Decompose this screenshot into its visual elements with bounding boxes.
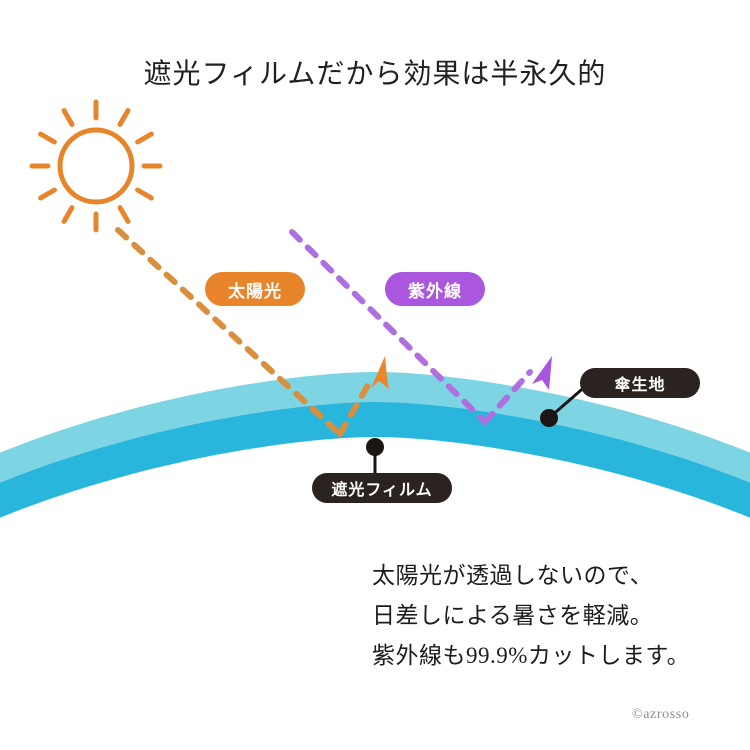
umbrella-fabric-anchor-dot [540,409,558,427]
page-title: 遮光フィルムだから効果は半永久的 [0,52,750,92]
caption-line-2: 日差しによる暑さを軽減。 [372,596,690,636]
badge-ultraviolet[interactable]: 紫外線 [385,272,485,306]
shading-film-anchor-dot [366,438,384,456]
copyright-watermark: ©azrosso [632,707,689,723]
caption-line-3: 紫外線も99.9%カットします。 [372,636,690,676]
badge-shading-film[interactable]: 遮光フィルム [312,473,452,503]
badge-sunlight[interactable]: 太陽光 [205,272,305,306]
caption-block: 太陽光が透過しないので、 日差しによる暑さを軽減。 紫外線も99.9%カットしま… [372,556,690,676]
sun-icon [32,102,160,230]
shading-film-leader [366,438,384,478]
caption-line-1: 太陽光が透過しないので、 [372,556,690,596]
badge-umbrella-fabric[interactable]: 傘生地 [580,368,700,398]
infographic-canvas: 遮光フィルムだから効果は半永久的 太陽光 紫外線 傘生地 遮光フィルム 太陽光が… [0,0,750,750]
uv-arrowhead [532,356,552,390]
